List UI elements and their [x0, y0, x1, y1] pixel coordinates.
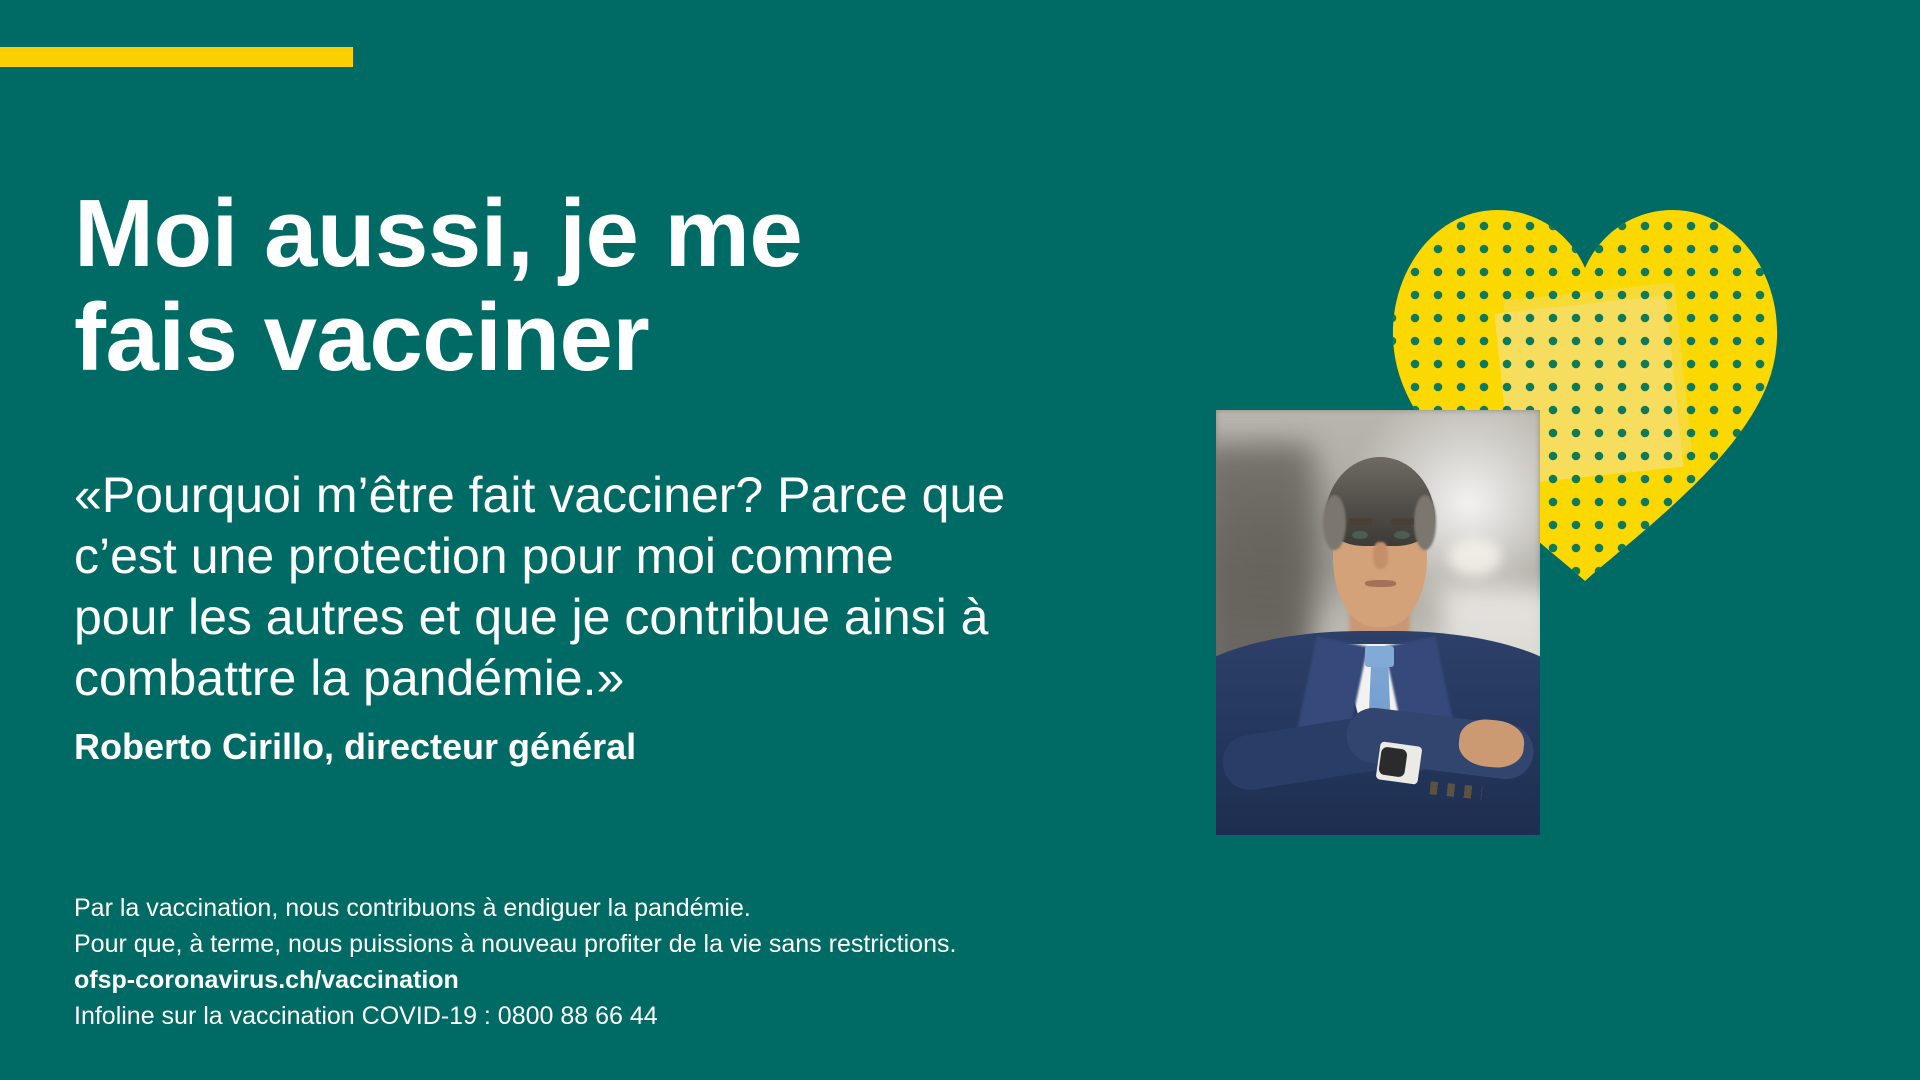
headline-line-2: fais vacciner — [74, 286, 1024, 390]
headline-line-1: Moi aussi, je me — [74, 182, 1024, 286]
photo-eye-left — [1352, 531, 1368, 539]
poster-canvas: Moi aussi, je me fais vacciner «Pourquoi… — [0, 0, 1920, 1080]
footer-line-1: Par la vaccination, nous contribuons à e… — [74, 890, 956, 926]
portrait-photo — [1216, 410, 1540, 835]
photo-hair-temple-left — [1323, 495, 1346, 550]
photo-mouth — [1365, 580, 1396, 587]
photo-necktie-knot — [1365, 646, 1394, 667]
testimonial-quote: «Pourquoi m’être fait vacciner? Parce qu… — [74, 465, 1184, 709]
photo-eyebrow-right — [1391, 518, 1414, 525]
quote-line-4: combattre la pandémie.» — [74, 648, 1184, 709]
photo-eyebrow-left — [1349, 518, 1372, 525]
photo-wristwatch — [1378, 746, 1407, 777]
page-title: Moi aussi, je me fais vacciner — [74, 182, 1024, 389]
quote-line-3: pour les autres et que je contribue ains… — [74, 587, 1184, 648]
footer-website-link[interactable]: ofsp-coronavirus.ch/vaccination — [74, 962, 956, 998]
photo-nose — [1373, 542, 1388, 570]
photo-eye-right — [1394, 531, 1410, 539]
yellow-accent-bar — [0, 47, 353, 67]
quote-line-2: c’est une protection pour moi comme — [74, 526, 1184, 587]
footer-line-2: Pour que, à terme, nous puissions à nouv… — [74, 926, 956, 962]
footer-block: Par la vaccination, nous contribuons à e… — [74, 890, 956, 1034]
quote-attribution: Roberto Cirillo, directeur général — [74, 725, 636, 768]
quote-line-1: «Pourquoi m’être fait vacciner? Parce qu… — [74, 465, 1184, 526]
photo-background-lamp — [1449, 538, 1501, 576]
footer-infoline: Infoline sur la vaccination COVID-19 : 0… — [74, 998, 956, 1034]
